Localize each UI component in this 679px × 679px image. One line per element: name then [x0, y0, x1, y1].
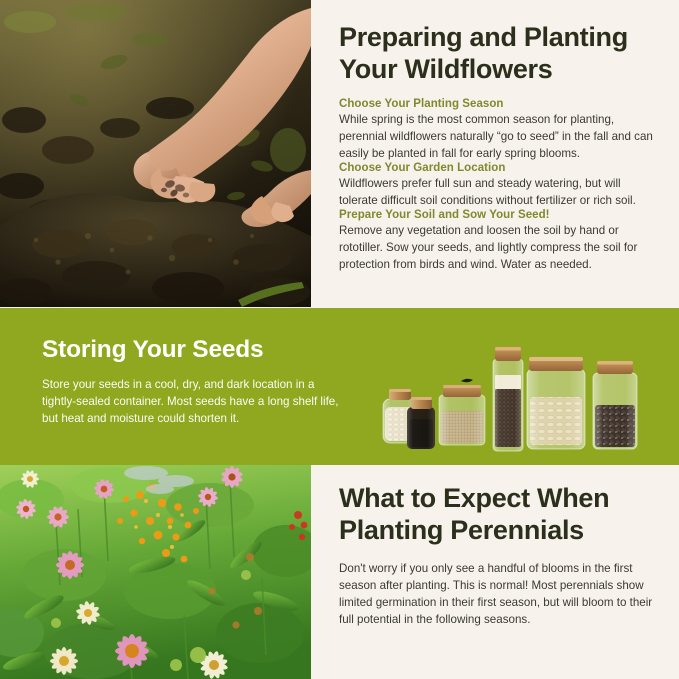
- expect-copy: What to Expect When Planting Perennials …: [311, 465, 679, 679]
- section-what-to-expect: What to Expect When Planting Perennials …: [0, 465, 679, 679]
- infographic-page: Preparing and Planting Your Wildflowers …: [0, 0, 679, 679]
- paragraph-garden-location: Wildflowers prefer full sun and steady w…: [339, 175, 653, 209]
- jar-sand-seeds: [439, 379, 485, 445]
- photo-wildflower-meadow: [0, 465, 311, 679]
- expect-title: What to Expect When Planting Perennials: [339, 483, 653, 546]
- storing-paragraph: Store your seeds in a cool, dry, and dar…: [42, 376, 342, 427]
- paragraph-prepare-soil: Remove any vegetation and loosen the soi…: [339, 222, 653, 273]
- storing-title: Storing Your Seeds: [42, 336, 342, 364]
- expect-paragraph: Don't worry if you only see a handful of…: [339, 560, 653, 628]
- planting-block: Choose Your Planting Season While spring…: [339, 98, 653, 162]
- planting-block: Prepare Your Soil and Sow Your Seed! Rem…: [339, 209, 653, 273]
- section-storing-seeds: Storing Your Seeds Store your seeds in a…: [0, 308, 679, 465]
- jar-sunflower-seeds: [593, 361, 637, 449]
- jar-pumpkin-seeds: [527, 357, 585, 449]
- subheading-planting-season: Choose Your Planting Season: [339, 98, 653, 110]
- photo-seed-jars: [375, 337, 665, 453]
- subheading-garden-location: Choose Your Garden Location: [339, 162, 653, 174]
- jar-black-seeds: [407, 397, 435, 449]
- page-title: Preparing and Planting Your Wildflowers: [339, 22, 653, 85]
- paragraph-planting-season: While spring is the most common season f…: [339, 111, 653, 162]
- planting-block: Choose Your Garden Location Wildflowers …: [339, 162, 653, 209]
- jar-tall-dark-seeds: [493, 347, 523, 451]
- subheading-prepare-soil: Prepare Your Soil and Sow Your Seed!: [339, 209, 653, 221]
- storing-copy: Storing Your Seeds Store your seeds in a…: [42, 336, 342, 427]
- planting-copy: Preparing and Planting Your Wildflowers …: [311, 0, 679, 308]
- section-planting: Preparing and Planting Your Wildflowers …: [0, 0, 679, 308]
- photo-hands-sowing-seeds: [0, 0, 311, 307]
